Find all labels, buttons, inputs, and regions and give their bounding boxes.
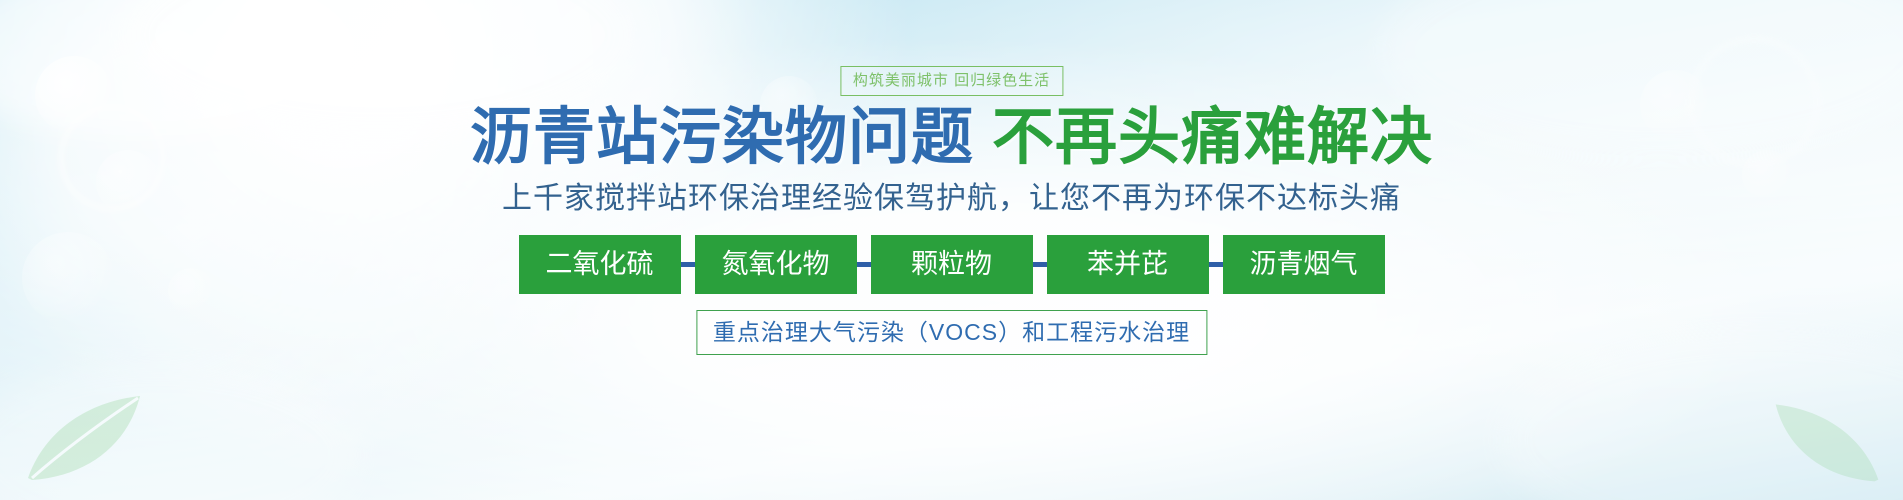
subtitle-text: 上千家搅拌站环保治理经验保驾护航，让您不再为环保不达标头痛 bbox=[502, 182, 1401, 216]
pollutant-pill[interactable]: 氮氧化物 bbox=[695, 235, 857, 294]
page-title: 沥青站污染物问题不再头痛难解决 bbox=[470, 105, 1433, 169]
pollutant-pill[interactable]: 苯并芘 bbox=[1047, 235, 1209, 294]
headline-accent: 不再头痛难解决 bbox=[992, 100, 1433, 173]
tagline-badge: 构筑美丽城市 回归绿色生活 bbox=[840, 66, 1063, 96]
pollutant-pill-list: 二氧化硫 氮氧化物 颗粒物 苯并芘 沥青烟气 bbox=[519, 235, 1385, 294]
pill-separator bbox=[681, 240, 695, 290]
pill-separator bbox=[857, 240, 871, 290]
footer-note-box: 重点治理大气污染（VOCS）和工程污水治理 bbox=[696, 310, 1207, 355]
pill-separator bbox=[1209, 240, 1223, 290]
hero-banner: 构筑美丽城市 回归绿色生活 沥青站污染物问题不再头痛难解决 上千家搅拌站环保治理… bbox=[0, 0, 1903, 500]
pill-separator bbox=[1033, 240, 1047, 290]
headline-primary: 沥青站污染物问题 bbox=[470, 100, 974, 173]
pollutant-pill[interactable]: 二氧化硫 bbox=[519, 235, 681, 294]
banner-content: 构筑美丽城市 回归绿色生活 沥青站污染物问题不再头痛难解决 上千家搅拌站环保治理… bbox=[0, 0, 1903, 500]
pollutant-pill[interactable]: 沥青烟气 bbox=[1223, 235, 1385, 294]
pollutant-pill[interactable]: 颗粒物 bbox=[871, 235, 1033, 294]
